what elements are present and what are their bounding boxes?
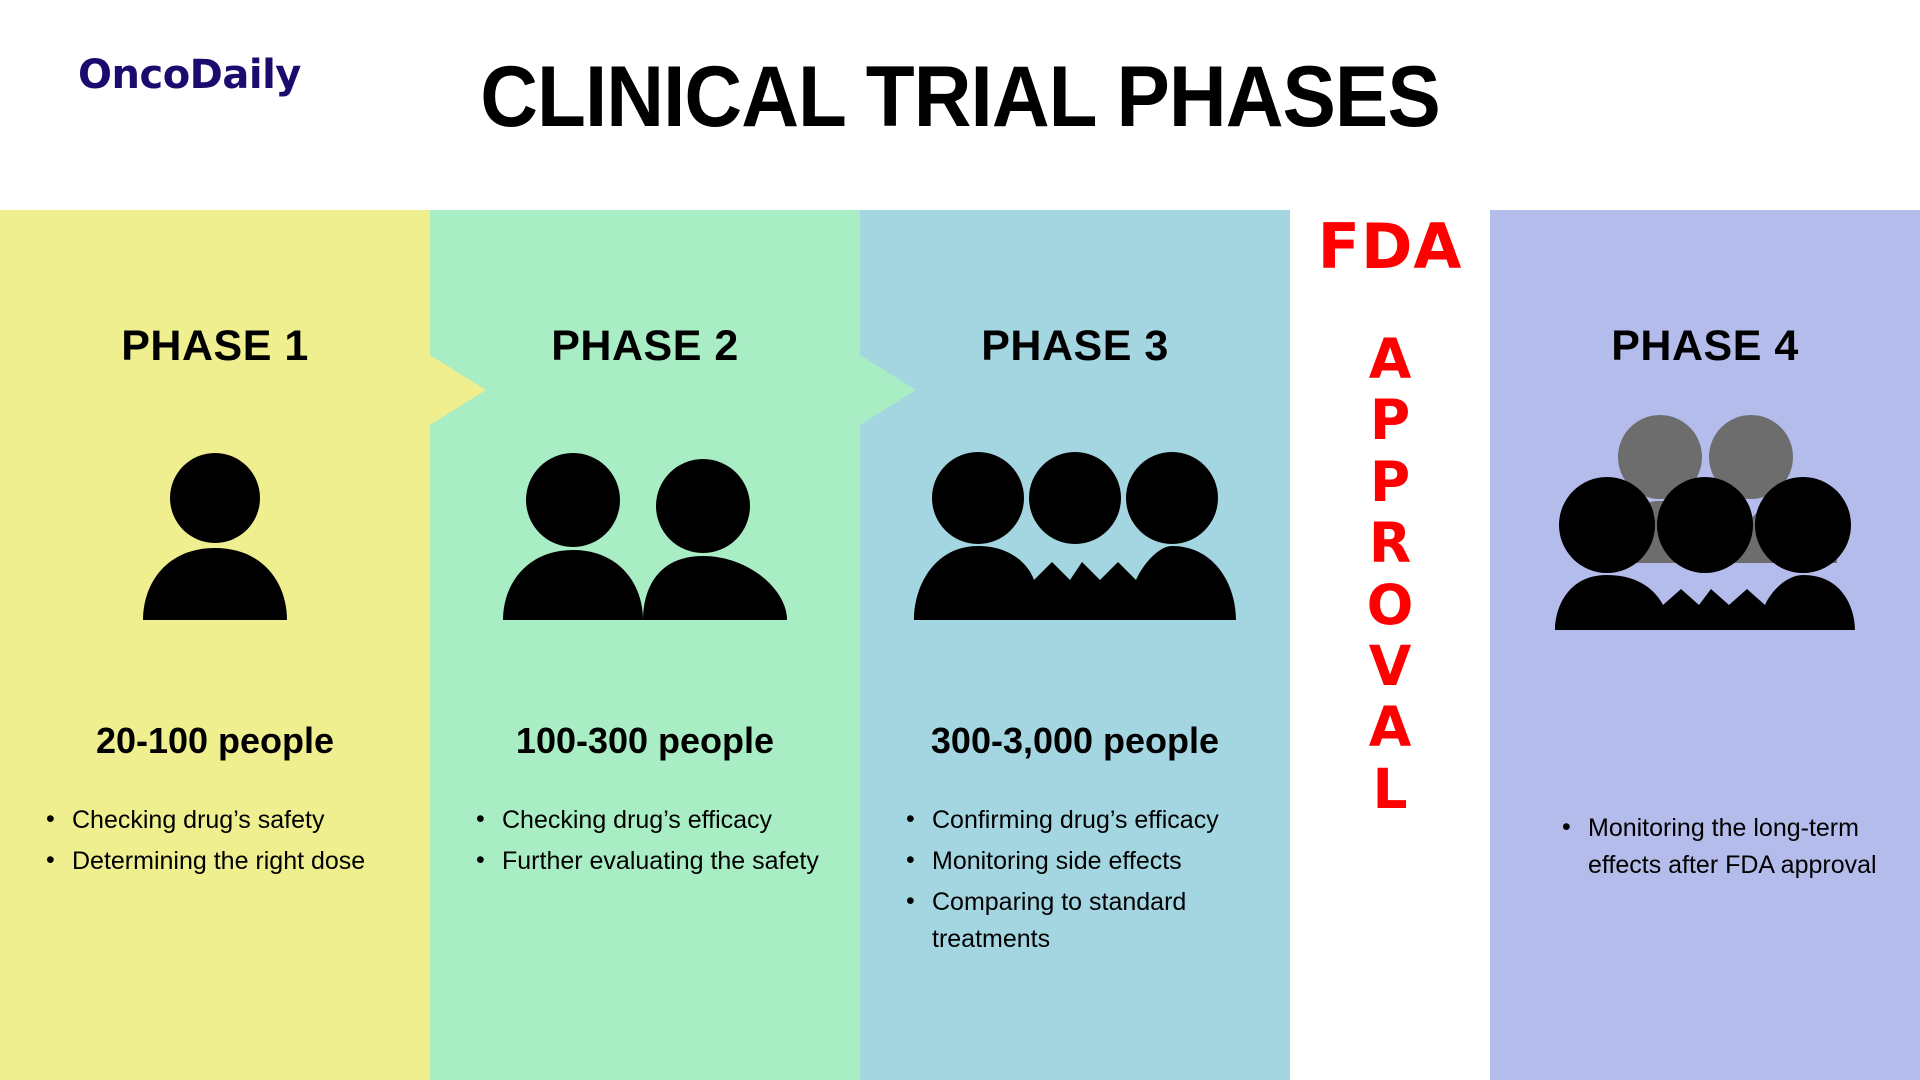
phase-2-title: PHASE 2: [430, 322, 860, 371]
phase-1-title: PHASE 1: [0, 322, 430, 371]
two-people-icon: [430, 440, 860, 620]
phase-panel-1: PHASE 1 20-100 people Checking drug’s sa…: [0, 210, 430, 1080]
phase-panel-2: PHASE 2 100-300 people Checking drug’s e…: [430, 210, 860, 1080]
approval-letter: A: [1369, 330, 1412, 389]
chevron-right-icon-1: [430, 355, 486, 425]
list-item: Monitoring the long-term effects after F…: [1562, 810, 1880, 884]
phase-1-bullets: Checking drug’s safety Determining the r…: [46, 802, 406, 884]
phase-2-bullets: Checking drug’s efficacy Further evaluat…: [476, 802, 836, 884]
phase-3-count: 300-3,000 people: [860, 720, 1290, 762]
chevron-right-icon-2: [860, 355, 916, 425]
list-item: Checking drug’s safety: [46, 802, 406, 839]
approval-letter: P: [1370, 453, 1410, 512]
phase-3-bullets: Confirming drug’s efficacy Monitoring si…: [906, 802, 1266, 962]
phase-2-count: 100-300 people: [430, 720, 860, 762]
infographic-canvas: OncoDaily CLINICAL TRIAL PHASES PHASE 1 …: [0, 0, 1920, 1080]
phase-4-bullets: Monitoring the long-term effects after F…: [1562, 810, 1880, 888]
approval-letter: A: [1369, 698, 1412, 757]
phase-panel-3: PHASE 3 300-3,000 people Confirming drug…: [860, 210, 1290, 1080]
fda-approval-gate: FDA A P P R O V A L: [1290, 210, 1490, 1080]
one-person-icon: [0, 440, 430, 620]
phase-1-count: 20-100 people: [0, 720, 430, 762]
approval-letter: R: [1369, 514, 1411, 573]
list-item: Confirming drug’s efficacy: [906, 802, 1266, 839]
five-people-icon: [1490, 415, 1920, 630]
phase-3-title: PHASE 3: [860, 322, 1290, 371]
phase-4-title: PHASE 4: [1490, 322, 1920, 371]
list-item: Determining the right dose: [46, 843, 406, 880]
list-item: Further evaluating the safety: [476, 843, 836, 880]
list-item: Comparing to standard treatments: [906, 884, 1266, 958]
approval-letter: L: [1372, 760, 1407, 819]
approval-letter: V: [1369, 637, 1412, 696]
approval-label-vertical: A P P R O V A L: [1290, 330, 1490, 819]
phase-panel-4: PHASE 4 Monitoring the long-term effects…: [1490, 210, 1920, 1080]
fda-label: FDA: [1290, 210, 1490, 283]
approval-letter: O: [1367, 576, 1414, 635]
list-item: Checking drug’s efficacy: [476, 802, 836, 839]
page-title: CLINICAL TRIAL PHASES: [67, 48, 1853, 147]
three-people-icon: [860, 440, 1290, 620]
approval-letter: P: [1370, 391, 1410, 450]
list-item: Monitoring side effects: [906, 843, 1266, 880]
